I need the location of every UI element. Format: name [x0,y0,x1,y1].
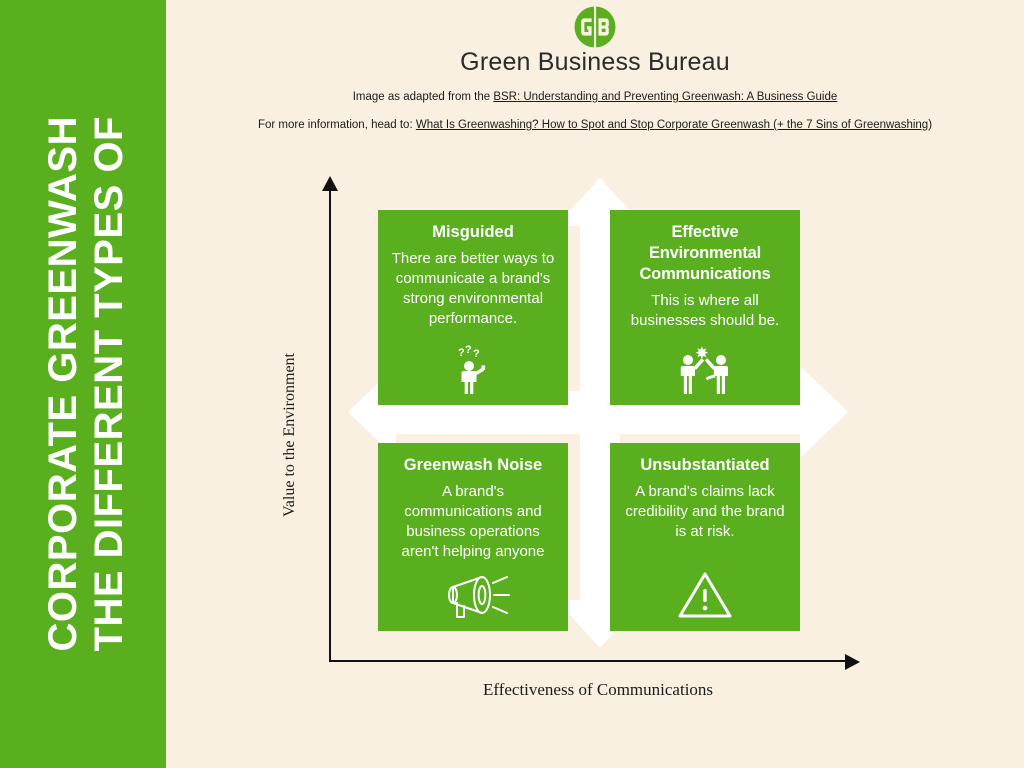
warning-triangle-icon [676,569,734,621]
quadrant-misguided[interactable]: Misguided There are better ways to commu… [378,210,568,405]
megaphone-icon [435,573,511,621]
quadrant-description: A brand's claims lack credibility and th… [620,482,790,542]
quadrant-title: Effective Environmental Communications [620,222,790,285]
quadrant-title: Unsubstantiated [640,455,769,476]
confused-person-icon: ? ? ? [450,345,496,395]
quadrant-matrix: Value to the Environment Effectiveness o… [0,0,1024,768]
quadrant-description: This is where all businesses should be. [620,291,790,331]
quadrant-title: Misguided [432,222,514,243]
x-axis-line [329,660,847,662]
high-five-people-icon [674,343,736,395]
quadrant-title: Greenwash Noise [404,455,542,476]
y-axis-arrowhead-icon [322,176,338,191]
quadrant-description: A brand's communications and business op… [388,482,558,562]
x-axis-label: Effectiveness of Communications [353,680,843,700]
y-axis-line [329,190,331,662]
quadrant-unsubstantiated[interactable]: Unsubstantiated A brand's claims lack cr… [610,443,800,631]
quadrant-greenwash-noise[interactable]: Greenwash Noise A brand's communications… [378,443,568,631]
quadrant-effective-environmental-communications[interactable]: Effective Environmental Communications T… [610,210,800,405]
quadrant-description: There are better ways to communicate a b… [388,249,558,329]
svg-text:?: ? [473,348,480,360]
y-axis-label: Value to the Environment [278,320,302,550]
svg-text:?: ? [465,345,472,356]
svg-text:?: ? [458,347,465,359]
x-axis-arrowhead-icon [845,654,860,670]
